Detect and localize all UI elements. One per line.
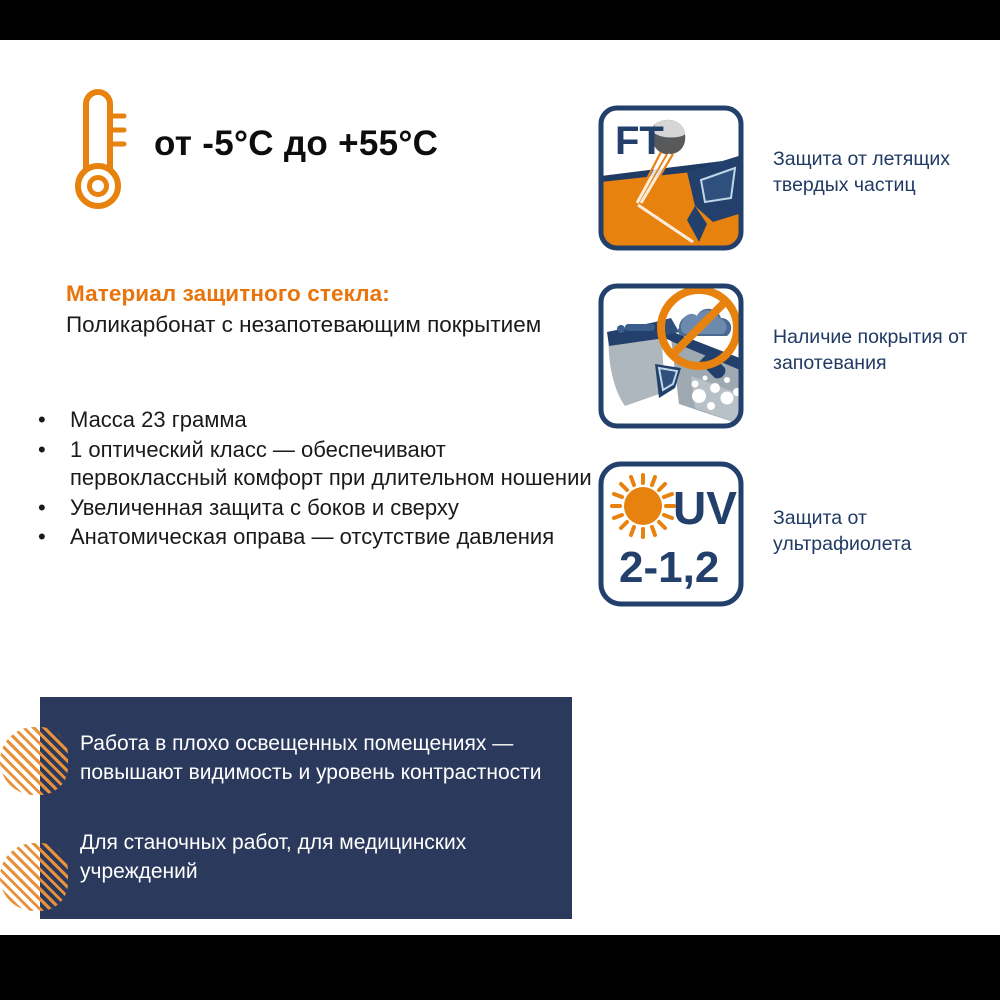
bullet-icon: •: [38, 494, 46, 523]
list-item: • 1 оптический класс — обеспечивают перв…: [32, 436, 592, 493]
flying-particles-icon: FT: [595, 102, 747, 254]
list-item-label: Масса 23 грамма: [70, 407, 247, 432]
hatched-circle-marker: [0, 727, 68, 795]
list-item: • Увеличенная защита с боков и сверху: [32, 494, 592, 523]
callout-line: Для станочных работ, для медицинских учр…: [80, 787, 560, 886]
hatched-circle-marker: [0, 843, 68, 911]
material-heading: Материал защитного стекла:: [66, 280, 586, 308]
svg-text:UV: UV: [673, 482, 737, 534]
temperature-range-label: от -5°С до +55°С: [154, 124, 438, 164]
thermometer-icon: [62, 82, 142, 217]
slide-canvas: от -5°С до +55°С Материал защитного стек…: [0, 40, 1000, 935]
icon-feature-caption: Защита от ультрафиолета: [773, 506, 998, 558]
svg-text:2-1,2: 2-1,2: [619, 543, 719, 592]
material-info-block: Материал защитного стекла: Поликарбонат …: [66, 280, 586, 340]
icon-feature-caption: Защита от летящих твердых частиц: [773, 147, 998, 199]
callout-text-container: Работа в плохо освещенных помещениях — п…: [80, 697, 560, 886]
anti-fog-icon: [595, 280, 747, 432]
bullet-icon: •: [38, 523, 46, 552]
bullet-icon: •: [38, 406, 46, 435]
temperature-range-row: от -5°С до +55°С: [62, 82, 502, 227]
list-item: • Анатомическая оправа — отсутствие давл…: [32, 523, 592, 552]
material-description: Поликарбонат с незапотевающим покрытием: [66, 311, 586, 340]
list-item: • Масса 23 грамма: [32, 406, 592, 435]
list-item-label: 1 оптический класс — обеспечивают первок…: [70, 437, 592, 491]
svg-text:FT: FT: [615, 119, 664, 163]
bottom-letterbox-band: [0, 935, 1000, 1000]
top-letterbox-band: [0, 0, 1000, 40]
features-bullet-list: • Масса 23 грамма • 1 оптический класс —…: [32, 406, 592, 553]
icon-feature-caption: Наличие покрытия от запотевания: [773, 325, 998, 377]
callout-line: Работа в плохо освещенных помещениях — п…: [80, 697, 560, 787]
list-item-label: Увеличенная защита с боков и сверху: [70, 495, 459, 520]
list-item-label: Анатомическая оправа — отсутствие давлен…: [70, 524, 554, 549]
uv-protection-icon: UV 2-1,2: [595, 458, 747, 610]
bullet-icon: •: [38, 436, 46, 465]
